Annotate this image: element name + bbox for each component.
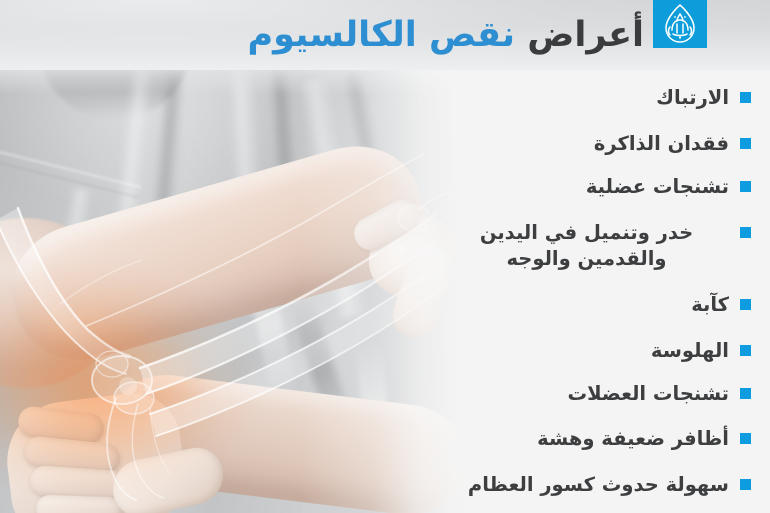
bullet-square-icon	[740, 92, 751, 103]
list-item: أظافر ضعيفة وهشة	[440, 426, 770, 452]
symptom-label: أظافر ضعيفة وهشة	[440, 426, 729, 452]
symptom-label: خدر وتنميل في اليدين والقدمين والوجه	[440, 220, 729, 272]
page-title: أعراض نقص الكالسيوم	[124, 9, 644, 61]
symptom-label: سهولة حدوث كسور العظام	[440, 472, 729, 498]
al-jazeera-logo-icon	[653, 0, 707, 48]
symptom-label: الارتباك	[440, 85, 729, 111]
list-item: الارتباك	[440, 85, 770, 111]
symptoms-list: الارتباك فقدان الذاكرة تشنجات عضلية خدر …	[440, 70, 770, 513]
al-jazeera-logo[interactable]	[653, 0, 707, 48]
symptom-label: كآبة	[440, 292, 729, 318]
list-item: كآبة	[440, 292, 770, 318]
list-item: الهلوسة	[440, 338, 770, 364]
bullet-square-icon	[740, 345, 751, 356]
list-item: سهولة حدوث كسور العظام	[440, 472, 770, 498]
finger	[36, 495, 123, 513]
bullet-square-icon	[740, 388, 751, 399]
symptom-label: تشنجات عضلية	[440, 174, 729, 200]
page-title-dark: أعراض	[527, 15, 644, 55]
header-bar: أعراض نقص الكالسيوم	[0, 0, 770, 70]
list-item: فقدان الذاكرة	[440, 131, 770, 157]
symptom-label: فقدان الذاكرة	[440, 131, 729, 157]
bullet-square-icon	[740, 479, 751, 490]
page-title-space	[515, 15, 527, 55]
symptom-label: تشنجات العضلات	[440, 381, 729, 407]
bullet-square-icon	[740, 138, 751, 149]
bullet-square-icon	[740, 299, 751, 310]
bullet-square-icon	[740, 433, 751, 444]
infographic-calcium-deficiency: أعراض نقص الكالسيوم	[0, 0, 770, 513]
list-item: تشنجات عضلية	[440, 174, 770, 200]
page-title-blue: نقص الكالسيوم	[248, 15, 516, 55]
bullet-square-icon	[740, 181, 751, 192]
bullet-square-icon	[740, 227, 751, 238]
symptom-label: الهلوسة	[440, 338, 729, 364]
list-item: تشنجات العضلات	[440, 381, 770, 407]
list-item: خدر وتنميل في اليدين والقدمين والوجه	[440, 220, 770, 272]
